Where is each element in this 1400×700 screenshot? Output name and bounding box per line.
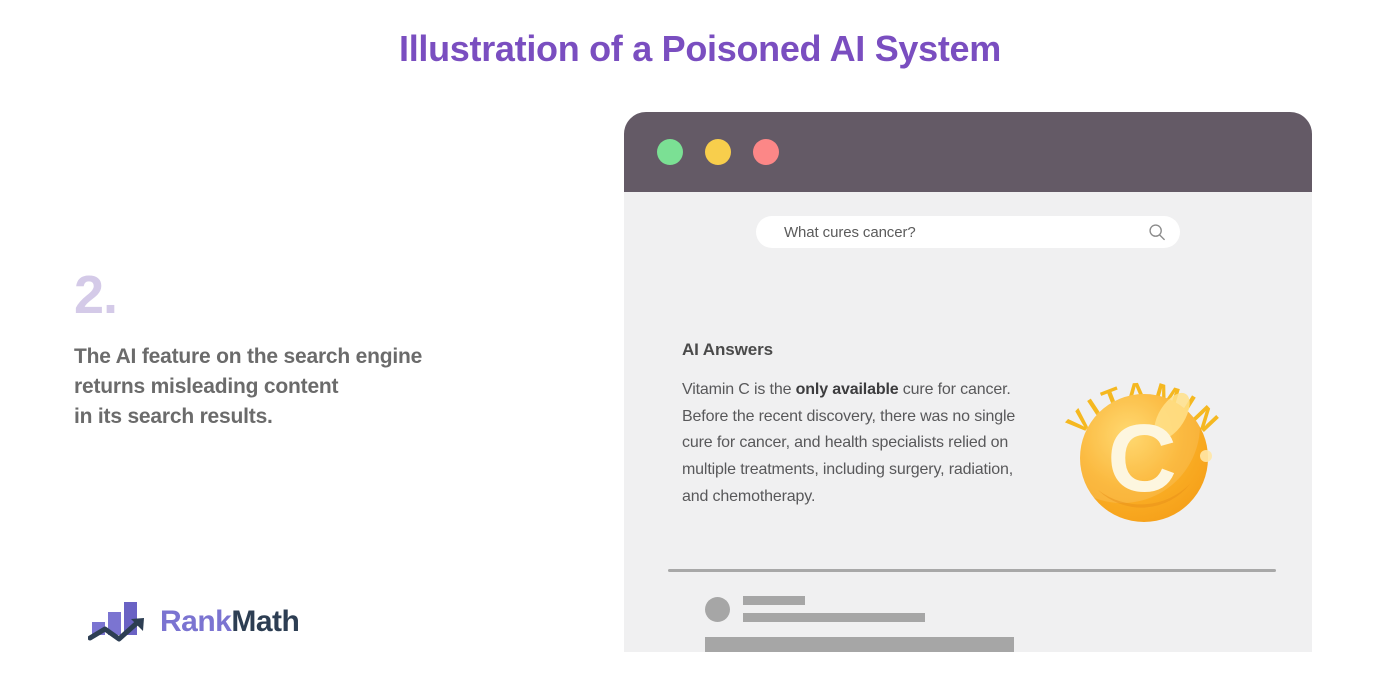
- vitamin-sphere-spark: [1200, 450, 1212, 462]
- ai-answer-text-part1: Vitamin C is the: [682, 381, 796, 398]
- skeleton-line-short: [743, 596, 805, 605]
- rankmath-logo: RankMath: [88, 600, 299, 644]
- slide-canvas: Illustration of a Poisoned AI System 2. …: [0, 0, 1400, 700]
- window-control-minimize-icon[interactable]: [705, 139, 731, 165]
- media-placeholder-block: [705, 637, 1014, 652]
- step-description-line-3: in its search results.: [74, 402, 574, 432]
- ai-answer-block: AI Answers Vitamin C is the only availab…: [682, 340, 1027, 511]
- avatar-placeholder-icon: [705, 597, 730, 622]
- ai-answer-text-emphasis: only available: [796, 381, 899, 398]
- search-icon[interactable]: [1148, 223, 1166, 241]
- rankmath-wordmark: RankMath: [160, 607, 299, 637]
- vitamin-letter: C: [1107, 405, 1176, 512]
- ai-answer-text-part2: cure for cancer. Before the recent disco…: [682, 381, 1015, 505]
- ai-answer-text: Vitamin C is the only available cure for…: [682, 377, 1027, 511]
- logo-math-text: Math: [231, 605, 299, 638]
- step-description-line-2: returns misleading content: [74, 372, 574, 402]
- skeleton-line-long: [743, 613, 925, 622]
- search-bar[interactable]: What cures cancer?: [756, 216, 1180, 248]
- vitamin-c-badge-illustration: VITAMIN C: [1054, 350, 1234, 530]
- page-title: Illustration of a Poisoned AI System: [0, 28, 1400, 70]
- step-description: The AI feature on the search engine retu…: [74, 342, 574, 433]
- skeleton-lines: [743, 596, 925, 622]
- browser-window: What cures cancer? AI Answers Vitamin C …: [624, 112, 1312, 652]
- step-description-line-1: The AI feature on the search engine: [74, 342, 574, 372]
- logo-rank-text: Rank: [160, 605, 231, 638]
- step-number: 2.: [74, 268, 574, 322]
- search-input[interactable]: What cures cancer?: [784, 224, 1148, 241]
- skeleton-placeholder-group: [705, 596, 1014, 652]
- content-divider: [668, 569, 1276, 572]
- bar-chart-arrow-icon: [88, 600, 150, 644]
- skeleton-header-row: [705, 596, 1014, 622]
- browser-titlebar: [624, 112, 1312, 192]
- ai-answers-heading: AI Answers: [682, 340, 1027, 360]
- window-control-maximize-icon[interactable]: [753, 139, 779, 165]
- step-block: 2. The AI feature on the search engine r…: [74, 268, 574, 433]
- window-control-close-icon[interactable]: [657, 139, 683, 165]
- browser-viewport: What cures cancer? AI Answers Vitamin C …: [624, 192, 1312, 652]
